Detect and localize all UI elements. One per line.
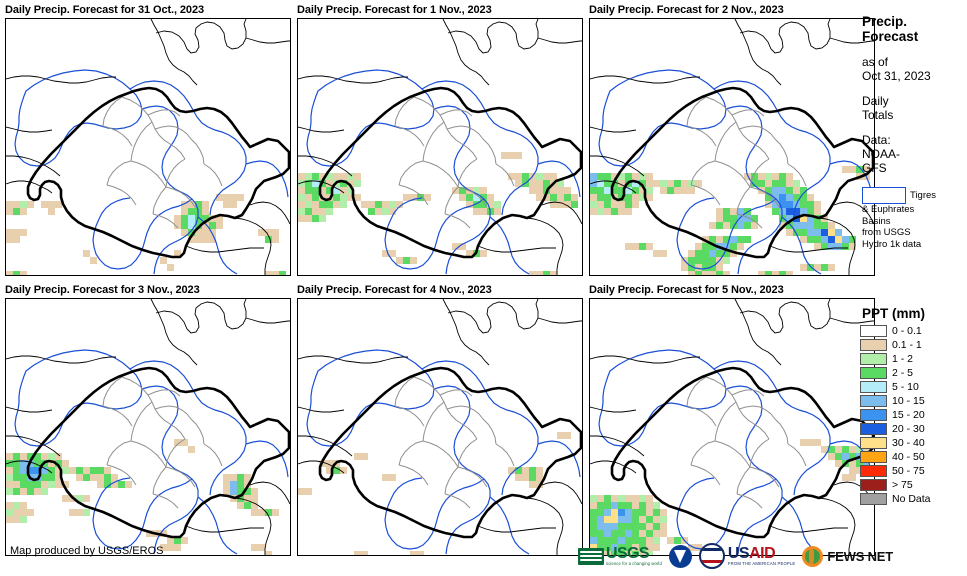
sidebar-asof-line2: Oct 31, 2023 (862, 69, 967, 83)
usaid-seal-icon (699, 543, 725, 569)
legend-label: No Data (892, 493, 931, 505)
fews-wordmark: FEWS NET (827, 549, 893, 564)
noaa-seal-icon (669, 545, 692, 568)
legend-row: 20 - 30 (860, 422, 967, 436)
legend-swatch (860, 381, 887, 393)
legend-label: 20 - 30 (892, 423, 925, 435)
usgs-wordmark: USGS (606, 546, 662, 561)
legend-row: 2 - 5 (860, 366, 967, 380)
precip-raster (590, 439, 870, 555)
sidebar-data-line3: GFS (862, 161, 967, 175)
legend-label: 10 - 15 (892, 395, 925, 407)
usaid-wordmark: USAID (728, 546, 796, 561)
usgs-tagline: science for a changing world (606, 561, 662, 566)
sidebar-title-line2: Forecast (862, 29, 967, 44)
precip-raster (298, 432, 571, 555)
iraq-border (28, 368, 289, 537)
basin-legend: Tigres & Euphrates Basins from USGS Hydr… (862, 187, 967, 250)
legend-row: 50 - 75 (860, 464, 967, 478)
country-boundaries (6, 299, 290, 555)
legend-row: 5 - 10 (860, 380, 967, 394)
sidebar: Precip. Forecast as of Oct 31, 2023 Dail… (862, 14, 967, 250)
legend-label: 30 - 40 (892, 437, 925, 449)
legend-swatch (860, 367, 887, 379)
agency-logos: USGS science for a changing world USAID … (578, 540, 893, 572)
legend-swatch (860, 493, 887, 505)
map-canvas[interactable] (589, 298, 875, 556)
noaa-logo (669, 545, 692, 568)
legend-row: 40 - 50 (860, 450, 967, 464)
legend-row: > 75 (860, 478, 967, 492)
legend-label: > 75 (892, 479, 913, 491)
sidebar-data-line2: NOAA- (862, 147, 967, 161)
map-canvas[interactable] (5, 18, 291, 276)
legend-label: 50 - 75 (892, 465, 925, 477)
legend-swatch (860, 437, 887, 449)
basin-label-line5: Hydro 1k data (862, 239, 967, 251)
legend-row: No Data (860, 492, 967, 506)
tigris-euphrates-basin (307, 350, 580, 554)
map-canvas[interactable] (297, 298, 583, 556)
tigris-euphrates-basin (307, 70, 580, 274)
fews-net-logo: FEWS NET (802, 546, 893, 567)
map-canvas[interactable] (5, 298, 291, 556)
legend-swatch (860, 423, 887, 435)
legend-row: 10 - 15 (860, 394, 967, 408)
legend-label: 2 - 5 (892, 367, 913, 379)
country-boundaries (6, 19, 290, 275)
iraq-border (320, 368, 581, 537)
map-canvas[interactable] (589, 18, 875, 276)
legend-label: 15 - 20 (892, 409, 925, 421)
legend-label: 40 - 50 (892, 451, 925, 463)
sidebar-data-source: Data: NOAA- GFS (862, 133, 967, 175)
sidebar-title-line1: Precip. (862, 14, 967, 29)
legend-swatch (860, 465, 887, 477)
country-boundaries (298, 299, 582, 555)
sidebar-totals: Daily Totals (862, 94, 967, 122)
map-canvas[interactable] (297, 18, 583, 276)
sidebar-asof: as of Oct 31, 2023 (862, 55, 967, 83)
basin-label-line4: from USGS (862, 227, 967, 239)
sidebar-title: Precip. Forecast (862, 14, 967, 44)
tigris-euphrates-basin (15, 70, 288, 274)
legend-label: 5 - 10 (892, 381, 919, 393)
usgs-logo: USGS science for a changing world (578, 546, 662, 566)
ppt-legend: PPT (mm) 0 - 0.10.1 - 11 - 22 - 55 - 101… (860, 306, 967, 506)
panel-title: Daily Precip. Forecast for 4 Nov., 2023 (297, 284, 492, 296)
legend-swatch (860, 339, 887, 351)
legend-swatch (860, 353, 887, 365)
legend-row: 1 - 2 (860, 352, 967, 366)
sidebar-totals-line1: Daily (862, 94, 967, 108)
panel-title: Daily Precip. Forecast for 2 Nov., 2023 (589, 4, 784, 16)
legend-swatch (860, 479, 887, 491)
basin-label-line2: & Euphrates (862, 204, 967, 216)
iraq-border (28, 88, 289, 257)
basin-label-line3: Basins (862, 216, 967, 228)
legend-swatch (860, 451, 887, 463)
basin-outline-swatch (862, 187, 906, 204)
legend-label: 0 - 0.1 (892, 325, 922, 337)
iraq-border (320, 88, 581, 257)
legend-row: 30 - 40 (860, 436, 967, 450)
usaid-tagline: FROM THE AMERICAN PEOPLE (728, 561, 796, 566)
legend-swatch (860, 325, 887, 337)
country-boundaries (298, 19, 582, 275)
panel-title: Daily Precip. Forecast for 5 Nov., 2023 (589, 284, 784, 296)
fews-globe-icon (802, 546, 823, 567)
map-credit: Map produced by USGS/EROS (10, 545, 163, 557)
panel-title: Daily Precip. Forecast for 31 Oct., 2023 (5, 4, 204, 16)
basin-label-line1: Tigres (910, 190, 936, 202)
legend-title: PPT (mm) (862, 306, 967, 321)
tigris-euphrates-basin (15, 350, 288, 554)
sidebar-asof-line1: as of (862, 55, 967, 69)
usaid-logo: USAID FROM THE AMERICAN PEOPLE (699, 543, 796, 569)
legend-swatch (860, 409, 887, 421)
legend-label: 0.1 - 1 (892, 339, 922, 351)
panel-title: Daily Precip. Forecast for 3 Nov., 2023 (5, 284, 200, 296)
legend-label: 1 - 2 (892, 353, 913, 365)
legend-row: 0 - 0.1 (860, 324, 967, 338)
legend-row: 0.1 - 1 (860, 338, 967, 352)
panel-title: Daily Precip. Forecast for 1 Nov., 2023 (297, 4, 492, 16)
sidebar-data-line1: Data: (862, 133, 967, 147)
usgs-wave-icon (578, 548, 604, 565)
legend-row: 15 - 20 (860, 408, 967, 422)
legend-swatch (860, 395, 887, 407)
sidebar-totals-line2: Totals (862, 108, 967, 122)
